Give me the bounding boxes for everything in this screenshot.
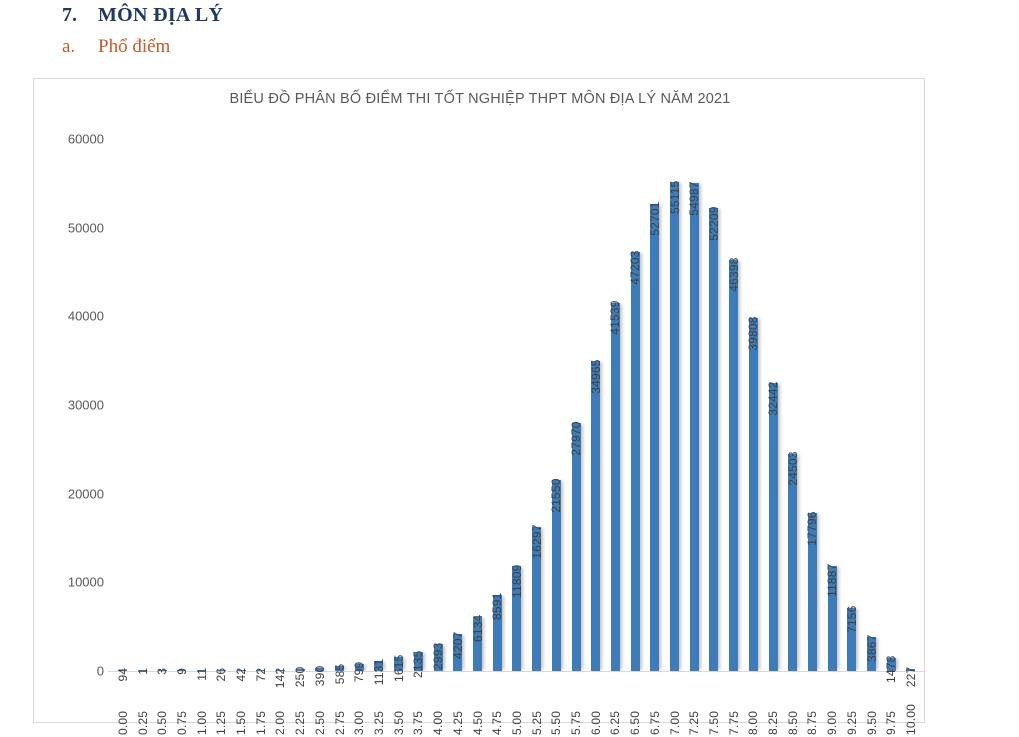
bar-cell: 17796: [803, 139, 823, 671]
bar-cell: 72: [251, 139, 271, 671]
x-axis-tick: 4.00: [428, 675, 448, 735]
bar-value-label: 54987: [687, 181, 701, 215]
bar-value-label: 9: [175, 668, 189, 675]
bar-cell: 34965: [586, 139, 606, 671]
bar-cell: 39808: [744, 139, 764, 671]
x-axis-tick: 8.00: [744, 675, 764, 735]
bar[interactable]: 4207: [453, 634, 462, 671]
chart-title: BIỂU ĐỒ PHÂN BỐ ĐIỂM THI TỐT NGHIỆP THPT…: [34, 91, 926, 107]
bar[interactable]: 7156: [847, 608, 856, 671]
x-axis-tick-label: 7.75: [727, 675, 741, 735]
x-axis-tick-label: 8.25: [766, 675, 780, 735]
bar-value-label: 11809: [510, 564, 524, 597]
bar-value-label: 21550: [549, 478, 563, 512]
x-axis-tick: 7.50: [704, 675, 724, 735]
bar-cell: 142: [271, 139, 291, 671]
bar-cell: 4207: [448, 139, 468, 671]
bar-cell: 3867: [862, 139, 882, 671]
x-axis-tick-label: 0.75: [175, 675, 189, 735]
bar[interactable]: 47203: [631, 252, 640, 671]
bar[interactable]: 94: [118, 670, 127, 672]
x-axis-tick: 1.50: [231, 675, 251, 735]
bar-value-label: 55115: [668, 180, 682, 213]
x-axis-tick: 2.25: [290, 675, 310, 735]
x-axis-labels: 0.000.250.500.751.001.251.501.752.002.25…: [113, 675, 921, 735]
x-axis-tick-label: 3.00: [352, 675, 366, 735]
section-heading: 7. MÔN ĐỊA LÝ: [62, 4, 223, 27]
x-axis-tick-label: 2.50: [313, 675, 327, 735]
bar-value-label: 7156: [845, 606, 859, 634]
bar-cell: 47203: [625, 139, 645, 671]
x-axis-tick-label: 6.50: [628, 675, 642, 735]
x-axis-tick-label: 6.25: [608, 675, 622, 735]
bar[interactable]: 1: [138, 670, 147, 672]
bar[interactable]: 55115: [670, 182, 679, 671]
x-axis-tick-label: 5.25: [530, 675, 544, 735]
bar-cell: 26: [212, 139, 232, 671]
x-axis-tick-label: 8.00: [746, 675, 760, 735]
bar-cell: 9: [172, 139, 192, 671]
bar[interactable]: 27970: [572, 423, 581, 671]
bar[interactable]: 24503: [788, 454, 797, 671]
x-axis-tick: 3.00: [349, 675, 369, 735]
x-axis-tick-label: 4.25: [451, 675, 465, 735]
bar[interactable]: 1615: [394, 657, 403, 671]
x-axis-tick-label: 3.25: [372, 675, 386, 735]
x-axis-tick: 1.00: [192, 675, 212, 735]
x-axis-tick-label: 0.00: [116, 675, 130, 735]
bar-value-label: 3867: [865, 635, 879, 663]
x-axis-tick: 1.75: [251, 675, 271, 735]
x-axis-tick-label: 0.25: [136, 675, 150, 735]
x-axis-tick: 9.50: [862, 675, 882, 735]
bar-cell: 16297: [527, 139, 547, 671]
bar-value-label: 4207: [451, 632, 465, 660]
chart-container: BIỂU ĐỒ PHÂN BỐ ĐIỂM THI TỐT NGHIỆP THPT…: [33, 78, 925, 723]
bar[interactable]: 32442: [769, 383, 778, 671]
bar-cell: 799: [349, 139, 369, 671]
y-axis-tick-label: 40000: [68, 309, 104, 324]
bar-value-label: 16297: [530, 525, 544, 559]
x-axis-tick: 6.00: [586, 675, 606, 735]
bar-cell: 227: [901, 139, 921, 671]
x-axis-tick: 5.00: [507, 675, 527, 735]
bar[interactable]: 6134: [473, 617, 482, 671]
bar-cell: 46398: [724, 139, 744, 671]
x-axis-tick: 8.50: [783, 675, 803, 735]
x-axis-tick: 9.00: [822, 675, 842, 735]
bar[interactable]: 16297: [532, 527, 541, 672]
bar[interactable]: 42: [237, 670, 246, 672]
bar-cell: 1: [133, 139, 153, 671]
x-axis-tick-label: 1.75: [254, 675, 268, 735]
x-axis-tick: 7.75: [724, 675, 744, 735]
bar-cell: 52701: [645, 139, 665, 671]
x-axis-tick: 0.75: [172, 675, 192, 735]
bar[interactable]: 26: [217, 670, 226, 672]
x-axis-tick-label: 9.75: [884, 675, 898, 735]
bar-value-label: 46398: [727, 258, 741, 292]
x-axis-tick-label: 8.50: [786, 675, 800, 735]
bar-value-label: 8591: [490, 593, 504, 621]
bar[interactable]: 8591: [493, 595, 502, 671]
x-axis-tick-label: 1.25: [214, 675, 228, 735]
plot-area: 9413911264272142250390585799113116152135…: [113, 139, 921, 671]
bar[interactable]: 1131: [374, 661, 383, 671]
y-axis-tick-label: 60000: [68, 132, 104, 147]
x-axis-tick-label: 4.00: [431, 675, 445, 735]
x-axis-tick-label: 1.00: [195, 675, 209, 735]
x-axis-tick-label: 5.50: [549, 675, 563, 735]
section-number: 7.: [62, 4, 98, 27]
x-axis-tick: 2.75: [330, 675, 350, 735]
bar-cell: 1478: [881, 139, 901, 671]
x-axis-tick-label: 3.50: [392, 675, 406, 735]
bar-value-label: 32442: [766, 381, 780, 415]
x-axis-tick: 6.75: [645, 675, 665, 735]
x-axis-tick: 9.25: [842, 675, 862, 735]
bar-cell: 21550: [546, 139, 566, 671]
bar-value-label: 41539: [608, 301, 622, 335]
bar[interactable]: 585: [335, 666, 344, 671]
bar[interactable]: 52209: [709, 208, 718, 671]
x-axis-tick: 5.50: [546, 675, 566, 735]
bar[interactable]: 390: [315, 668, 324, 671]
bar[interactable]: 2135: [414, 652, 423, 671]
bar-value-label: 34965: [589, 359, 603, 393]
x-axis-line: [108, 671, 926, 672]
x-axis-tick-label: 0.50: [155, 675, 169, 735]
bar[interactable]: 799: [355, 664, 364, 671]
bar-value-label: 2993: [431, 642, 445, 670]
x-axis-tick-label: 4.50: [471, 675, 485, 735]
x-axis-tick-label: 5.75: [569, 675, 583, 735]
bar[interactable]: 46398: [729, 260, 738, 671]
x-axis-tick-label: 9.25: [845, 675, 859, 735]
bar[interactable]: 41539: [611, 303, 620, 671]
bar-value-label: 47203: [628, 250, 642, 284]
bar-value-label: 27970: [569, 421, 583, 455]
subsection-title: Phổ điểm: [98, 36, 170, 58]
x-axis-tick-label: 6.75: [648, 675, 662, 735]
y-axis-tick-label: 30000: [68, 398, 104, 413]
x-axis-tick-label: 8.75: [805, 675, 819, 735]
bar-cell: 11887: [822, 139, 842, 671]
y-axis-labels: 0100002000030000400005000060000: [34, 139, 104, 671]
bar-cell: 2993: [428, 139, 448, 671]
y-axis-tick-label: 10000: [68, 575, 104, 590]
bar-cell: 52209: [704, 139, 724, 671]
x-axis-tick-label: 5.00: [510, 675, 524, 735]
subsection-number: a.: [62, 36, 98, 58]
bar-cell: 7156: [842, 139, 862, 671]
bar-cell: 3: [152, 139, 172, 671]
bar-cell: 24503: [783, 139, 803, 671]
bar[interactable]: 1478: [887, 658, 896, 671]
bar-value-label: 17796: [805, 511, 819, 545]
bar-value-label: 1: [136, 668, 150, 675]
x-axis-tick: 4.50: [468, 675, 488, 735]
x-axis-tick-label: 6.00: [589, 675, 603, 735]
bar[interactable]: 3867: [867, 637, 876, 671]
x-axis-tick: 0.25: [133, 675, 153, 735]
bar-value-label: 2135: [411, 650, 425, 678]
x-axis-tick-label: 2.75: [333, 675, 347, 735]
bar[interactable]: 21550: [552, 480, 561, 671]
x-axis-tick-label: 4.75: [490, 675, 504, 735]
bar[interactable]: 39808: [749, 318, 758, 671]
x-axis-tick-label: 9.00: [825, 675, 839, 735]
section-title: MÔN ĐỊA LÝ: [98, 4, 223, 27]
bar[interactable]: 2993: [434, 644, 443, 671]
bar-series: 9413911264272142250390585799113116152135…: [113, 139, 921, 671]
x-axis-tick: 4.75: [487, 675, 507, 735]
x-axis-tick: 6.50: [625, 675, 645, 735]
x-axis-tick: 2.00: [271, 675, 291, 735]
x-axis-tick-label: 7.00: [668, 675, 682, 735]
x-axis-tick: 3.25: [369, 675, 389, 735]
bar-cell: 94: [113, 139, 133, 671]
x-axis-tick: 5.25: [527, 675, 547, 735]
bar-value-label: 52701: [648, 202, 662, 236]
x-axis-tick: 0.50: [152, 675, 172, 735]
bar[interactable]: 11: [197, 670, 206, 672]
x-axis-tick: 8.25: [763, 675, 783, 735]
bar[interactable]: 250: [296, 669, 305, 671]
bar-cell: 250: [290, 139, 310, 671]
y-axis-tick-label: 0: [97, 664, 104, 679]
bar[interactable]: 34965: [591, 361, 600, 671]
bar-value-label: 39808: [746, 316, 760, 350]
x-axis-tick: 0.00: [113, 675, 133, 735]
x-axis-tick: 1.25: [212, 675, 232, 735]
x-axis-tick: 3.50: [389, 675, 409, 735]
bar[interactable]: 3: [158, 670, 167, 672]
x-axis-tick-label: 1.50: [234, 675, 248, 735]
bar-cell: 11809: [507, 139, 527, 671]
x-axis-tick-label: 3.75: [411, 675, 425, 735]
bar[interactable]: 11887: [828, 566, 837, 671]
x-axis-tick-label: 7.50: [707, 675, 721, 735]
bar-value-label: 24503: [786, 452, 800, 486]
bar[interactable]: 72: [256, 670, 265, 672]
bar-cell: 2135: [409, 139, 429, 671]
x-axis-tick: 5.75: [566, 675, 586, 735]
x-axis-tick: 6.25: [606, 675, 626, 735]
bar[interactable]: 142: [276, 670, 285, 672]
bar-cell: 1615: [389, 139, 409, 671]
x-axis-tick: 3.75: [409, 675, 429, 735]
x-axis-tick: 7.25: [684, 675, 704, 735]
x-axis-tick-label: 2.25: [293, 675, 307, 735]
bar[interactable]: 17796: [808, 513, 817, 671]
bar-value-label: 11887: [825, 564, 839, 597]
bar-cell: 32442: [763, 139, 783, 671]
x-axis-tick: 9.75: [881, 675, 901, 735]
bar[interactable]: 227: [906, 669, 915, 671]
x-axis-tick: 4.25: [448, 675, 468, 735]
bar[interactable]: 54987: [690, 183, 699, 671]
y-axis-tick-label: 50000: [68, 220, 104, 235]
bar[interactable]: 52701: [650, 204, 659, 671]
y-axis-tick-label: 20000: [68, 486, 104, 501]
x-axis-tick-label: 9.50: [865, 675, 879, 735]
x-axis-tick: 10.00: [901, 675, 921, 735]
x-axis-tick-label: 7.25: [687, 675, 701, 735]
x-axis-tick: 2.50: [310, 675, 330, 735]
bar-cell: 42: [231, 139, 251, 671]
bar-cell: 585: [330, 139, 350, 671]
bar[interactable]: 11809: [512, 566, 521, 671]
bar-cell: 41539: [606, 139, 626, 671]
subsection-heading: a. Phổ điểm: [62, 36, 170, 58]
bar-cell: 390: [310, 139, 330, 671]
bar-cell: 11: [192, 139, 212, 671]
bar-cell: 8591: [487, 139, 507, 671]
bar-value-label: 3: [155, 668, 169, 675]
x-axis-tick-label: 2.00: [273, 675, 287, 735]
bar-value-label: 52209: [707, 206, 721, 240]
bar[interactable]: 9: [177, 670, 186, 672]
bar-cell: 54987: [684, 139, 704, 671]
bar-cell: 27970: [566, 139, 586, 671]
x-axis-tick-label: 10.00: [904, 675, 918, 735]
x-axis-tick: 7.00: [665, 675, 685, 735]
bar-value-label: 6134: [471, 615, 485, 643]
x-axis-tick: 8.75: [803, 675, 823, 735]
bar-cell: 55115: [665, 139, 685, 671]
bar-cell: 6134: [468, 139, 488, 671]
bar-cell: 1131: [369, 139, 389, 671]
